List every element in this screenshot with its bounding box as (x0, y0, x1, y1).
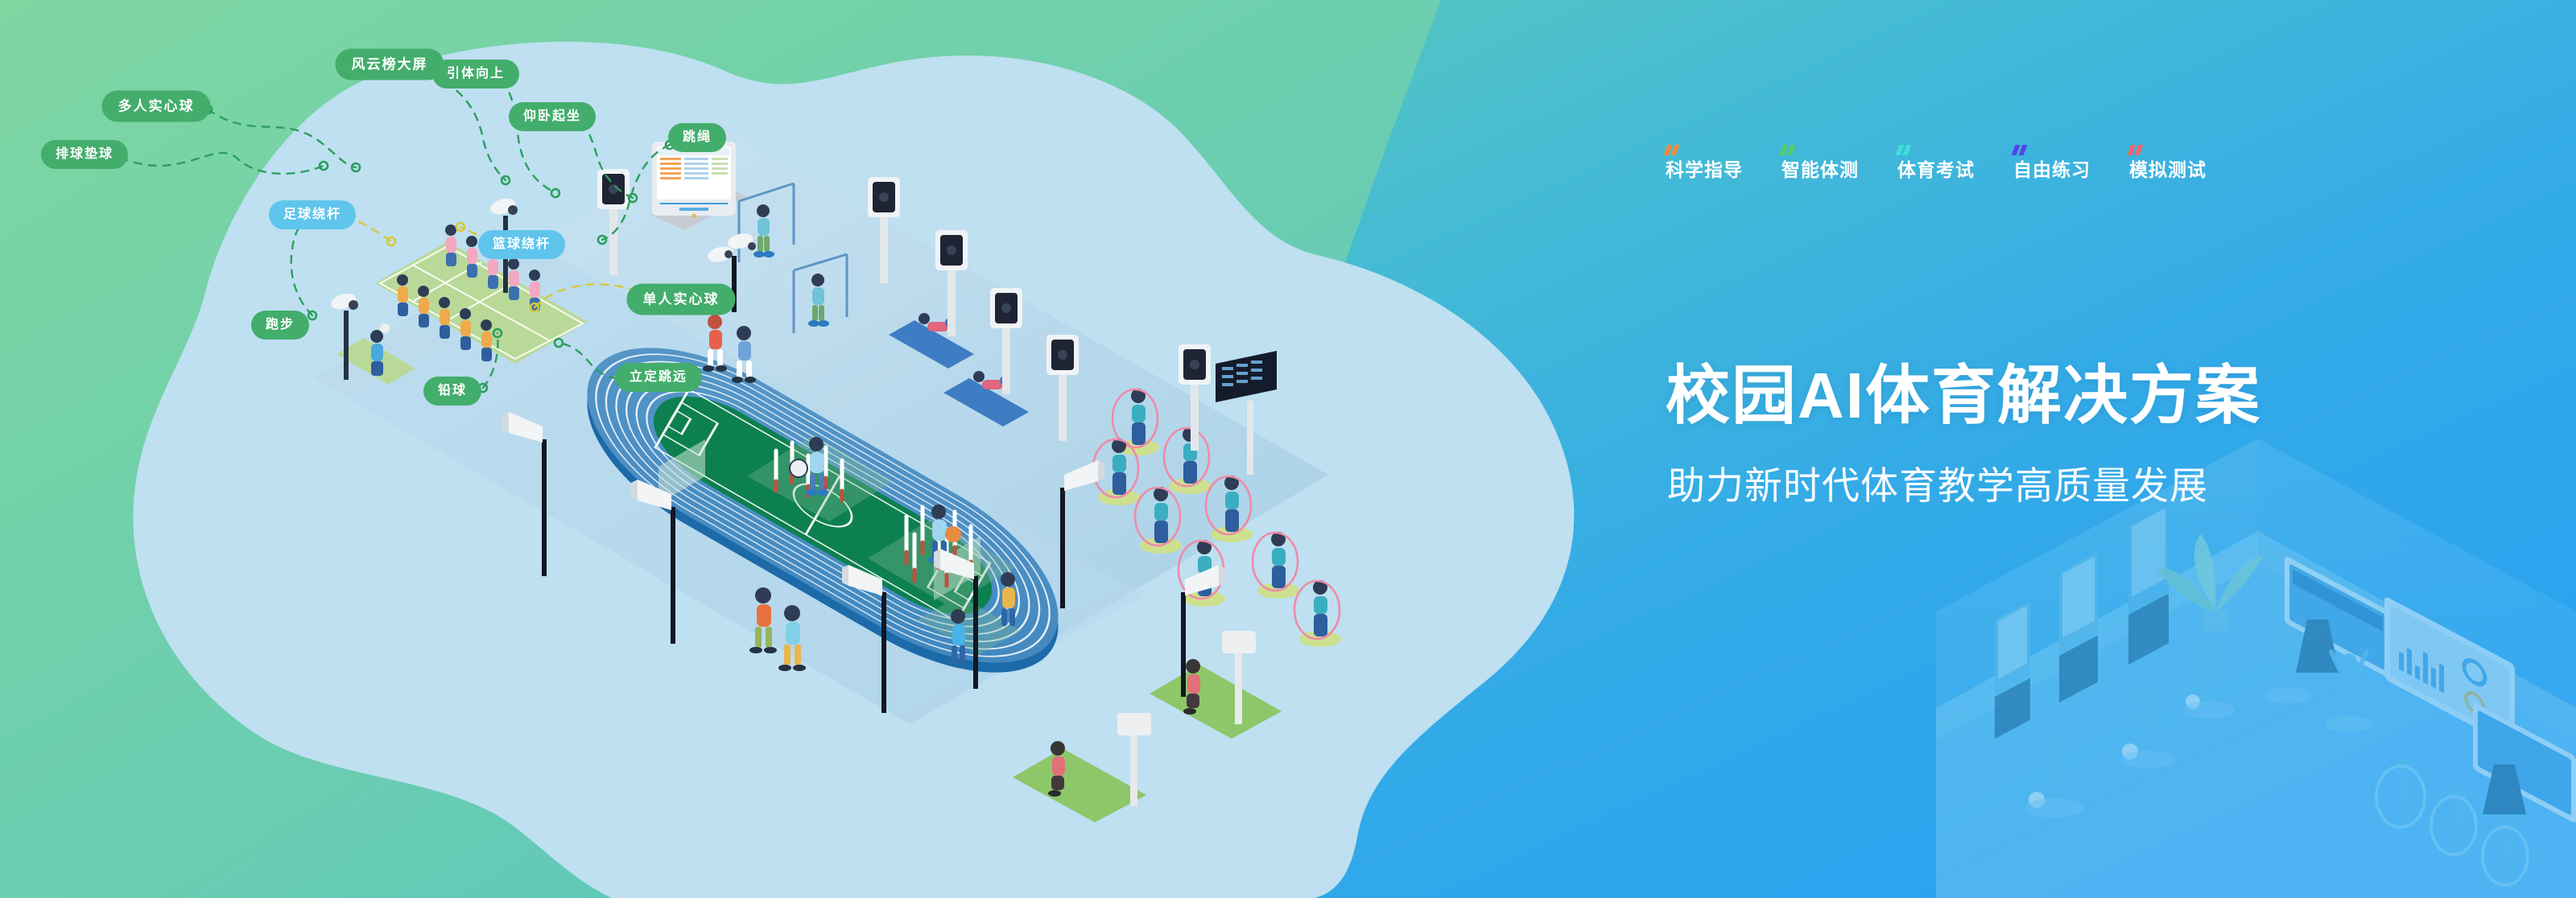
feature-tag[interactable]: 智能体测 (1781, 145, 1859, 179)
double-slash-icon (2013, 145, 2031, 155)
feature-tag[interactable]: 科学指导 (1666, 145, 1743, 179)
marker-tag[interactable]: 足球绕杆 (269, 200, 356, 229)
hero-banner: 排球垫球多人实心球风云榜大屏引体向上仰卧起坐跳绳足球绕杆篮球绕杆单人实心球跑步立… (0, 0, 2576, 898)
marker-tag[interactable]: 仰卧起坐 (509, 102, 596, 131)
feature-tag[interactable]: 模拟测试 (2129, 145, 2207, 179)
marker-tag[interactable]: 跑步 (251, 311, 309, 340)
feature-tag-label: 模拟测试 (2129, 161, 2207, 179)
marker-tag[interactable]: 单人实心球 (627, 284, 736, 315)
feature-tag-label: 体育考试 (1897, 161, 1975, 179)
page-title: 校园AI体育解决方案 (1666, 364, 2261, 428)
marker-tag[interactable]: 铅球 (423, 377, 481, 406)
feature-tag-label: 科学指导 (1666, 161, 1743, 179)
feature-tag[interactable]: 体育考试 (1897, 145, 1975, 179)
double-slash-icon (2129, 145, 2147, 155)
marker-tag[interactable]: 多人实心球 (102, 91, 211, 122)
double-slash-icon (1666, 145, 1683, 155)
marker-tag[interactable]: 风云榜大屏 (336, 49, 444, 80)
marker-tag[interactable]: 引体向上 (432, 60, 519, 89)
marker-tag[interactable]: 排球垫球 (41, 140, 128, 169)
double-slash-icon (1897, 145, 1915, 155)
marker-tag[interactable]: 篮球绕杆 (478, 230, 565, 259)
hero-copy: 科学指导智能体测体育考试自由练习模拟测试 (1666, 145, 2471, 179)
feature-tag[interactable]: 自由练习 (2013, 145, 2091, 179)
marker-tag[interactable]: 立定跳远 (615, 363, 702, 392)
feature-tag-label: 自由练习 (2013, 161, 2091, 179)
double-slash-icon (1781, 145, 1799, 155)
sports-field-illustration (0, 0, 2576, 898)
feature-tag-label: 智能体测 (1781, 161, 1859, 179)
feature-tag-row: 科学指导智能体测体育考试自由练习模拟测试 (1666, 145, 2471, 179)
marker-tag[interactable]: 跳绳 (668, 123, 726, 152)
page-subtitle: 助力新时代体育教学高质量发展 (1667, 467, 2208, 505)
